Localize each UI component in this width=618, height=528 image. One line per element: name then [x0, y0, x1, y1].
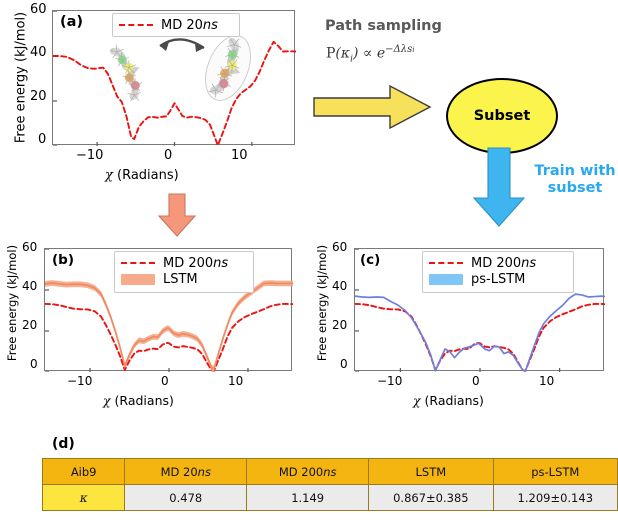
panel-b-legend: MD 200ns LSTM: [114, 251, 254, 293]
panel-c-tag: (c): [360, 252, 380, 268]
panel-a-ytick-0: 0: [38, 132, 46, 147]
panel-a-ytick-20: 20: [30, 89, 47, 104]
panel-b-ytick-0: 0: [30, 357, 38, 371]
legend-item-pslstm: ps-LSTM: [429, 271, 566, 287]
table-cell-0-0: 0.478: [125, 485, 247, 511]
table-header-cell-2: MD 200ns: [247, 459, 369, 485]
panel-a-xlabel-symbol: χ: [105, 168, 113, 183]
train-label-line2: subset: [532, 180, 618, 197]
panel-c-xtick-0: 0: [472, 374, 480, 388]
panel-b-xtick-m10: −10: [67, 374, 92, 388]
salmon-down-arrow: [156, 192, 198, 238]
table-header-cell-0: Aib9: [43, 459, 125, 485]
legend-item-md20: MD 20ns: [119, 17, 232, 33]
subset-node: Subset: [446, 78, 558, 154]
panel-c: Free energy (kJ/mol) 60 40 20 0 (c) MD 2…: [308, 238, 618, 434]
panel-b-ylabel: Free energy (kJ/mol): [5, 233, 19, 373]
kappa-table-wrap: Aib9MD 20nsMD 200nsLSTMps-LSTM κ0.4781.1…: [42, 458, 618, 511]
panel-c-xlabel-unit: (Radians): [421, 393, 484, 408]
table-cell-0-2: 0.867±0.385: [369, 485, 493, 511]
panel-a-xlabel-unit: (Radians): [113, 168, 179, 183]
table-row-label: κ: [43, 485, 125, 511]
subset-label: Subset: [474, 108, 531, 124]
legend-key-pslstm-band: [429, 274, 463, 285]
legend-label-md200: MD 200ns: [163, 256, 228, 271]
panel-c-ytick-0: 0: [340, 357, 348, 371]
panel-b-ytick-60: 60: [22, 240, 37, 254]
legend-label-md20: MD 20ns: [161, 18, 218, 33]
panel-a-tag: (a): [60, 14, 83, 30]
train-with-subset-label: Train with subset: [532, 163, 618, 197]
kappa-table: Aib9MD 20nsMD 200nsLSTMps-LSTM κ0.4781.1…: [42, 458, 618, 511]
panel-b-ytick-20: 20: [22, 318, 37, 332]
panel-c-xlabel-symbol: χ: [413, 393, 421, 408]
panel-a-xtick-10: 10: [231, 148, 248, 163]
panel-c-ylabel: Free energy (kJ/mol): [315, 233, 329, 373]
panel-b-ytick-40: 40: [22, 279, 37, 293]
panel-a-xtick-m10: −10: [76, 148, 103, 163]
legend-key-dashed-line: [429, 257, 463, 269]
panel-a-xtick-0: 0: [164, 148, 172, 163]
panel-a-xlabel: χ (Radians): [105, 168, 179, 183]
panel-c-ytick-60: 60: [332, 240, 347, 254]
panel-c-ytick-20: 20: [332, 318, 347, 332]
table-header-row: Aib9MD 20nsMD 200nsLSTMps-LSTM: [43, 459, 618, 485]
panel-a-legend: MD 20ns: [112, 13, 240, 37]
panel-a-ylabel: Free energy (kJ/mol): [14, 3, 29, 153]
blue-down-arrow: [468, 146, 534, 230]
figure-root: Free energy (kJ/mol) 60 40 20 0 (a) MD 2…: [0, 0, 618, 528]
legend-item-lstm: LSTM: [121, 271, 246, 287]
table-cell-0-3: 1.209±0.143: [493, 485, 617, 511]
table-header-cell-1: MD 20ns: [125, 459, 247, 485]
flow-equation: P(κi) ∝ e−Δλsi: [326, 44, 414, 64]
table-header-cell-4: ps-LSTM: [493, 459, 617, 485]
legend-item-md200: MD 200ns: [429, 255, 566, 271]
panel-b-xtick-10: 10: [228, 374, 243, 388]
panel-d: (d) Aib9MD 20nsMD 200nsLSTMps-LSTM κ0.47…: [0, 434, 618, 528]
flow-title: Path sampling: [325, 18, 442, 34]
panel-a-ytick-60: 60: [30, 2, 47, 17]
legend-key-lstm-band: [121, 274, 155, 285]
panel-b-xlabel: χ (Radians): [103, 393, 174, 408]
legend-label-pslstm: ps-LSTM: [471, 272, 525, 287]
panel-c-ytick-40: 40: [332, 279, 347, 293]
panel-c-xlabel: χ (Radians): [413, 393, 484, 408]
legend-key-dashed-line: [119, 19, 153, 31]
panel-c-legend: MD 200ns ps-LSTM: [422, 251, 574, 293]
panel-b-xlabel-symbol: χ: [103, 393, 111, 408]
flow-diagram: Path sampling P(κi) ∝ e−Δλsi Subset Trai…: [300, 0, 618, 230]
legend-key-dashed-line: [121, 257, 155, 269]
panel-c-xtick-m10: −10: [377, 374, 402, 388]
panel-b-xtick-0: 0: [161, 374, 169, 388]
table-header-cell-3: LSTM: [369, 459, 493, 485]
panel-a-ytick-40: 40: [30, 45, 47, 60]
panel-b: Free energy (kJ/mol) 60 40 20 0 (b) MD 2…: [0, 238, 308, 434]
table-row: κ0.4781.1490.867±0.3851.209±0.143: [43, 485, 618, 511]
legend-label-md200: MD 200ns: [471, 256, 536, 271]
panel-b-tag: (b): [52, 252, 74, 268]
train-label-line1: Train with: [532, 163, 618, 180]
panel-a: Free energy (kJ/mol) 60 40 20 0 (a) MD 2…: [0, 0, 300, 215]
panel-b-xlabel-unit: (Radians): [111, 393, 174, 408]
panel-c-xtick-10: 10: [539, 374, 554, 388]
legend-label-lstm: LSTM: [163, 272, 198, 287]
yellow-right-arrow: [312, 82, 447, 132]
panel-d-tag: (d): [52, 436, 75, 452]
legend-item-md200: MD 200ns: [121, 255, 246, 271]
table-cell-0-1: 1.149: [247, 485, 369, 511]
